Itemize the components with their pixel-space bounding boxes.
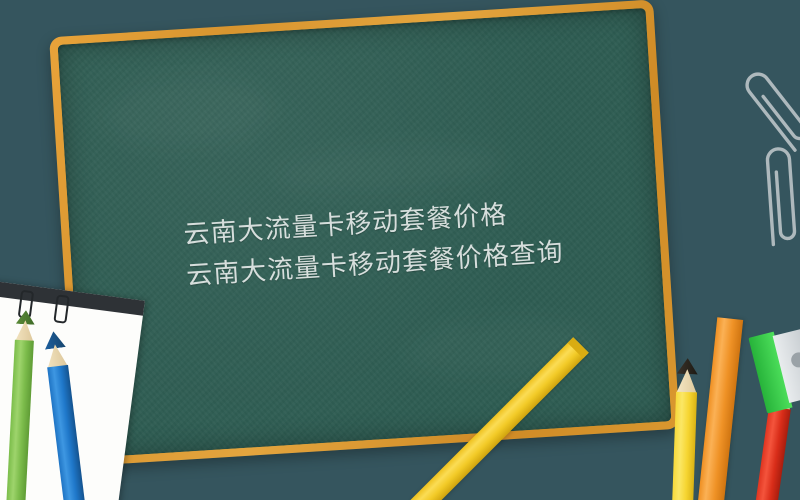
chalkboard-surface: 云南大流量卡移动套餐价格 云南大流量卡移动套餐价格查询	[58, 8, 672, 458]
scene-root: 云南大流量卡移动套餐价格 云南大流量卡移动套餐价格查询	[0, 0, 800, 500]
pencil-barrel	[672, 392, 697, 500]
chalk-smudge	[275, 137, 508, 199]
notebook-spiral-ring	[53, 294, 70, 323]
paperclip-icon	[752, 139, 800, 254]
chalkboard: 云南大流量卡移动套餐价格 云南大流量卡移动套餐价格查询	[49, 0, 680, 467]
chalkboard-wooden-frame: 云南大流量卡移动套餐价格 云南大流量卡移动套餐价格查询	[49, 0, 680, 467]
chalk-smudge	[100, 72, 274, 153]
chalkboard-headline: 云南大流量卡移动套餐价格 云南大流量卡移动套餐价格查询	[69, 186, 662, 305]
